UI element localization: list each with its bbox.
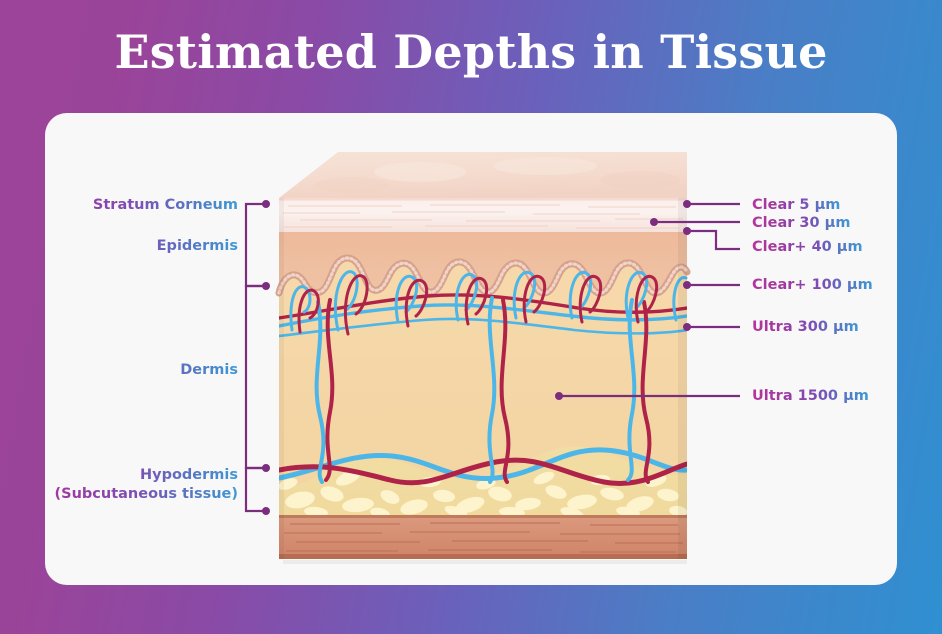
label-ultra-1500: Ultra 1500 µm [752,387,869,406]
label-clear-5-text: Clear 5 µm [752,197,840,213]
label-clear-30: Clear 30 µm [752,214,850,233]
label-clear-5: Clear 5 µm [752,196,840,215]
label-dermis: Dermis [0,361,238,380]
label-hypodermis: Hypodermis (Subcutaneous tissue) [0,466,238,504]
label-epidermis: Epidermis [0,237,238,256]
label-clear-plus-100: Clear+ 100 µm [752,276,873,295]
content-card [45,113,897,585]
label-hypodermis-line2: (Subcutaneous tissue) [0,485,238,504]
label-hypodermis-line1: Hypodermis [0,466,238,485]
label-ultra-1500-text: Ultra 1500 µm [752,388,869,404]
label-clear-plus-40: Clear+ 40 µm [752,238,863,257]
label-stratum-corneum: Stratum Corneum [0,196,238,215]
label-epidermis-text: Epidermis [157,238,238,254]
infographic-stage: Estimated Depths in Tissue [0,0,942,634]
label-dermis-text: Dermis [180,362,238,378]
label-ultra-300: Ultra 300 µm [752,318,859,337]
label-clear-30-text: Clear 30 µm [752,215,850,231]
label-clear-plus-100-text: Clear+ 100 µm [752,277,873,293]
label-ultra-300-text: Ultra 300 µm [752,319,859,335]
label-clear-plus-40-text: Clear+ 40 µm [752,239,863,255]
page-title: Estimated Depths in Tissue [0,27,942,78]
label-stratum-corneum-text: Stratum Corneum [93,197,238,213]
